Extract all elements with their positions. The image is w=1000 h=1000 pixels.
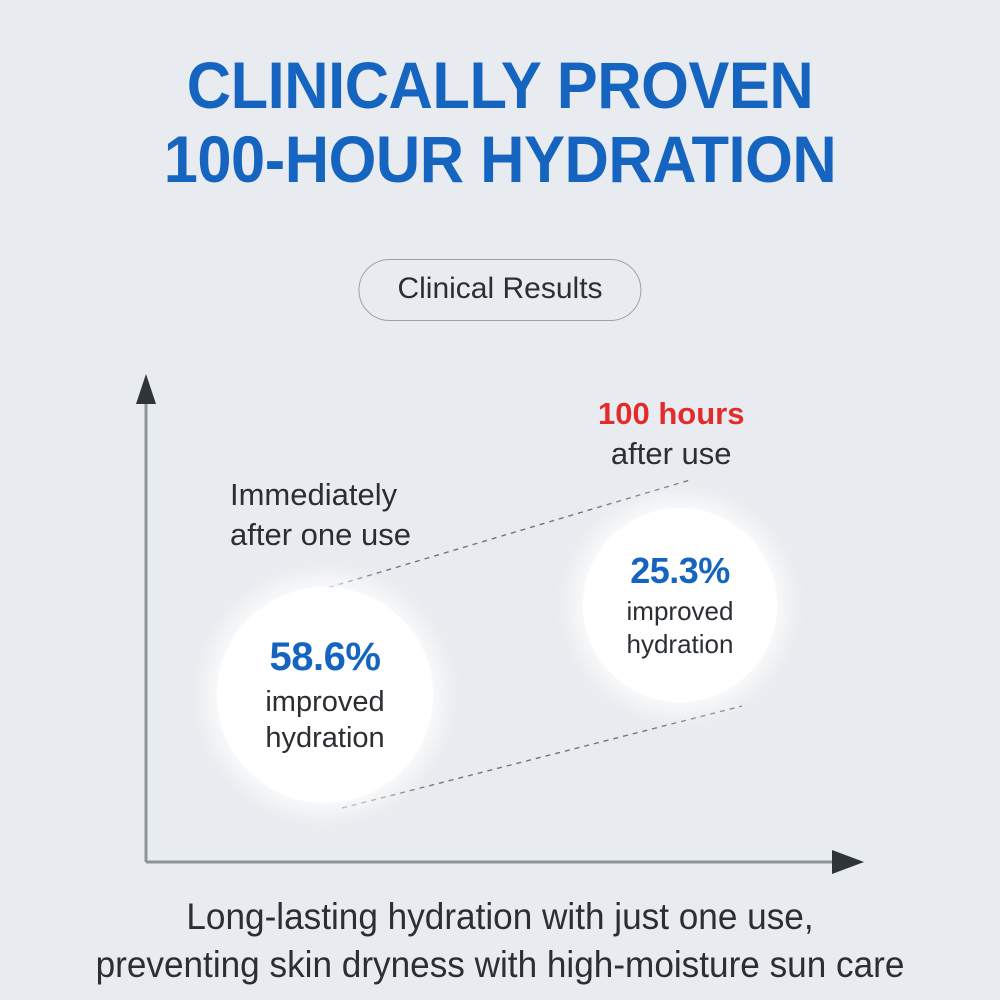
result-desc-immediate-line-2: hydration	[265, 720, 384, 756]
result-desc-hundred-hours-line-2: hydration	[627, 628, 734, 661]
result-desc-immediate: improved hydration	[265, 684, 384, 756]
infographic-root: CLINICALLY PROVEN 100-HOUR HYDRATION Cli…	[0, 0, 1000, 1000]
y-axis-arrow-icon	[136, 374, 156, 404]
footer-caption: Long-lasting hydration with just one use…	[25, 893, 975, 989]
annotation-immediate-line-1: Immediately	[230, 475, 411, 515]
annotation-hundred-hours: 100 hours after use	[598, 394, 744, 474]
result-circle-immediate: 58.6% improved hydration	[217, 587, 433, 803]
result-desc-hundred-hours-line-1: improved	[627, 595, 734, 628]
annotation-hundred-hours-sub: after use	[598, 434, 744, 474]
annotation-immediate-line-2: after one use	[230, 515, 411, 555]
result-value-immediate: 58.6%	[270, 634, 381, 680]
chart-area: Immediately after one use 100 hours afte…	[0, 0, 1000, 1000]
annotation-immediate: Immediately after one use	[230, 475, 411, 555]
footer-caption-line-1: Long-lasting hydration with just one use…	[25, 893, 975, 941]
result-desc-hundred-hours: improved hydration	[627, 595, 734, 661]
footer-caption-line-2: preventing skin dryness with high-moistu…	[25, 941, 975, 989]
x-axis-arrow-icon	[832, 850, 864, 874]
result-value-hundred-hours: 25.3%	[630, 550, 730, 592]
chart-axes-svg	[0, 0, 1000, 1000]
result-desc-immediate-line-1: improved	[265, 684, 384, 720]
result-circle-hundred-hours: 25.3% improved hydration	[583, 508, 777, 702]
annotation-hundred-hours-strong: 100 hours	[598, 394, 744, 434]
